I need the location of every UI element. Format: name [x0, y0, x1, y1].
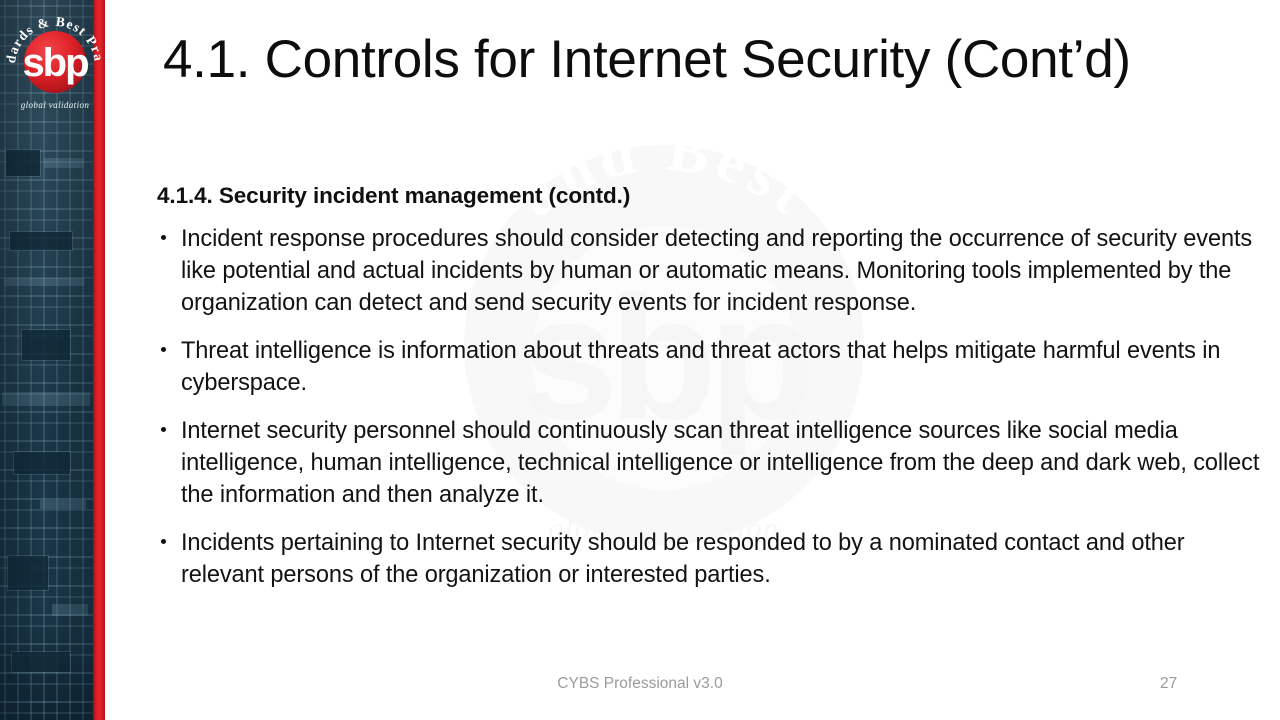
logo-tagline: global validation — [21, 100, 90, 110]
slide-content: 4.1. Controls for Internet Security (Con… — [105, 0, 1280, 720]
list-item-text: Incidents pertaining to Internet securit… — [181, 530, 1185, 588]
list-item: Incident response procedures should cons… — [153, 224, 1263, 320]
bullet-dot-icon — [161, 347, 166, 352]
bullet-list: Incident response procedures should cons… — [153, 224, 1263, 608]
logo-mark-text: sbp — [22, 41, 88, 85]
list-item-text: Incident response procedures should cons… — [181, 226, 1252, 316]
slide-footer-text: CYBS Professional v3.0 — [105, 675, 1175, 693]
list-item: Internet security personnel should conti… — [153, 416, 1263, 512]
sbp-logo: Standards & Best Practice sbp global val… — [3, 4, 107, 120]
section-subheading: 4.1.4. Security incident management (con… — [157, 183, 630, 209]
bullet-dot-icon — [161, 427, 166, 432]
bullet-dot-icon — [161, 235, 166, 240]
presentation-slide: Standards & Best Practice sbp global val… — [0, 0, 1280, 720]
list-item-text: Internet security personnel should conti… — [181, 418, 1259, 508]
list-item: Threat intelligence is information about… — [153, 336, 1263, 400]
slide-page-number: 27 — [1160, 675, 1220, 693]
list-item-text: Threat intelligence is information about… — [181, 338, 1220, 396]
list-item: Incidents pertaining to Internet securit… — [153, 528, 1263, 592]
page-title: 4.1. Controls for Internet Security (Con… — [163, 31, 1183, 89]
bullet-dot-icon — [161, 539, 166, 544]
